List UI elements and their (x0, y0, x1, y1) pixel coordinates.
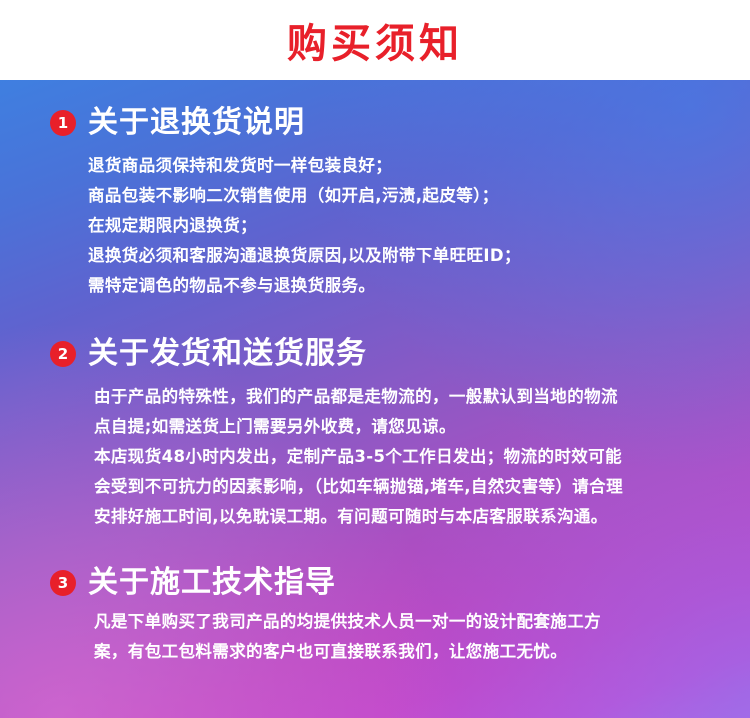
body-line: 本店现货48小时内发出，定制产品3-5个工作日发出；物流的时效可能 (94, 442, 710, 472)
section-body: 凡是下单购买了我司产品的均提供技术人员一对一的设计配套施工方 案，有包工包料需求… (50, 607, 710, 667)
section-shipping-policy: 2 关于发货和送货服务 由于产品的特殊性，我们的产品都是走物流的，一般默认到当地… (0, 337, 750, 532)
section-construction-guidance: 3 关于施工技术指导 凡是下单购买了我司产品的均提供技术人员一对一的设计配套施工… (0, 566, 750, 667)
body-line: 退货商品须保持和发货时一样包装良好； (88, 151, 710, 181)
sections-container: 1 关于退换货说明 退货商品须保持和发货时一样包装良好； 商品包装不影响二次销售… (0, 80, 750, 667)
section-number-badge: 2 (50, 341, 76, 367)
section-number-badge: 1 (50, 110, 76, 136)
section-title: 关于退换货说明 (88, 106, 305, 139)
body-line: 凡是下单购买了我司产品的均提供技术人员一对一的设计配套施工方 (94, 607, 710, 637)
body-line: 商品包装不影响二次销售使用（如开启,污渍,起皮等）； (88, 181, 710, 211)
page-title: 购买须知 (287, 11, 463, 69)
section-body: 由于产品的特殊性，我们的产品都是走物流的，一般默认到当地的物流 点自提;如需送货… (50, 382, 710, 532)
body-line: 点自提;如需送货上门需要另外收费，请您见谅。 (94, 412, 710, 442)
body-line: 由于产品的特殊性，我们的产品都是走物流的，一般默认到当地的物流 (94, 382, 710, 412)
section-body: 退货商品须保持和发货时一样包装良好； 商品包装不影响二次销售使用（如开启,污渍,… (50, 151, 710, 301)
section-header: 1 关于退换货说明 (50, 106, 710, 139)
section-header: 3 关于施工技术指导 (50, 566, 710, 599)
section-title: 关于施工技术指导 (88, 566, 336, 599)
section-title: 关于发货和送货服务 (88, 337, 367, 370)
purchase-notice-page: 购买须知 1 关于退换货说明 退货商品须保持和发货时一样包装良好； 商品包装不影… (0, 0, 750, 718)
body-line: 会受到不可抗力的因素影响，（比如车辆抛锚,堵车,自然灾害等）请合理 (94, 472, 710, 502)
body-line: 退换货必须和客服沟通退换货原因,以及附带下单旺旺ID； (88, 241, 710, 271)
body-line: 在规定期限内退换货； (88, 211, 710, 241)
section-header: 2 关于发货和送货服务 (50, 337, 710, 370)
body-line: 案，有包工包料需求的客户也可直接联系我们，让您施工无忧。 (94, 637, 710, 667)
body-line: 安排好施工时间,以免耽误工期。有问题可随时与本店客服联系沟通。 (94, 502, 710, 532)
page-header: 购买须知 (0, 0, 750, 80)
section-number-badge: 3 (50, 570, 76, 596)
section-return-policy: 1 关于退换货说明 退货商品须保持和发货时一样包装良好； 商品包装不影响二次销售… (0, 106, 750, 301)
notice-panel: 1 关于退换货说明 退货商品须保持和发货时一样包装良好； 商品包装不影响二次销售… (0, 80, 750, 718)
body-line: 需特定调色的物品不参与退换货服务。 (88, 271, 710, 301)
